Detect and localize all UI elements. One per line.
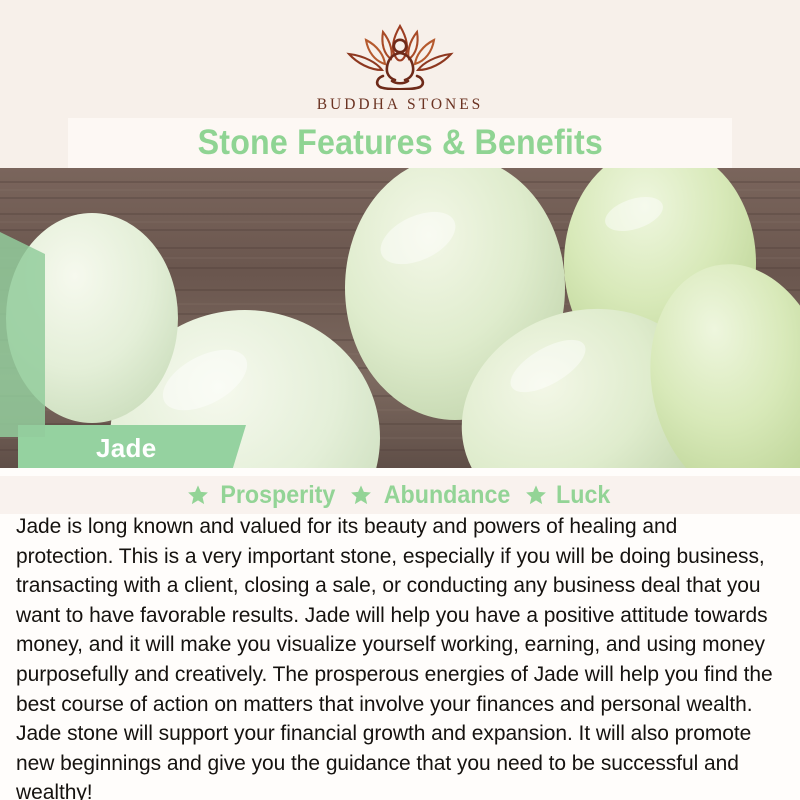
stone-photo: [0, 168, 800, 468]
star-icon: [187, 484, 209, 506]
stone-photo-illustration: [0, 168, 800, 468]
benefit-label: Prosperity: [221, 481, 336, 510]
brand-name: BUDDHA STONES: [317, 96, 484, 114]
brand-logo: BUDDHA STONES: [0, 18, 800, 114]
title-banner: Stone Features & Benefits: [68, 118, 732, 168]
benefit-label: Luck: [556, 481, 610, 510]
stone-name-banner: Jade: [18, 425, 246, 471]
star-icon: [525, 484, 547, 506]
content-panel: Prosperity Abundance Luck Jade is long k…: [0, 468, 800, 800]
infographic-page: BUDDHA STONES Stone Features & Benefits: [0, 0, 800, 800]
benefits-row: Prosperity Abundance Luck: [0, 476, 800, 514]
stone-description: Jade is long known and valued for its be…: [16, 512, 778, 800]
stone-name: Jade: [96, 433, 156, 464]
benefit-item: Prosperity: [187, 481, 340, 510]
star-icon: [350, 484, 372, 506]
benefit-label: Abundance: [384, 481, 511, 510]
page-title: Stone Features & Benefits: [197, 123, 602, 163]
decor-accent-left: [0, 232, 45, 437]
benefit-item: Abundance: [350, 481, 515, 510]
lotus-meditation-icon: [327, 18, 473, 90]
benefit-item: Luck: [525, 481, 612, 510]
